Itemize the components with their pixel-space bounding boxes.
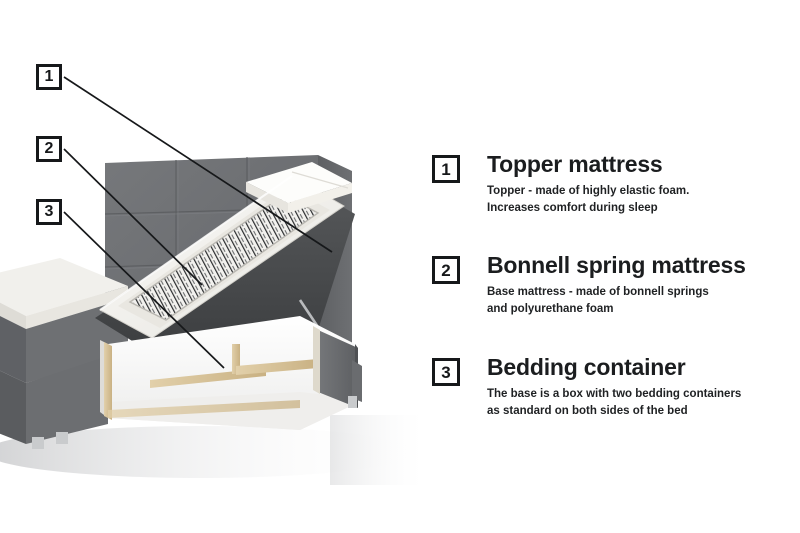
legend-badge-2-number: 2: [441, 262, 450, 279]
legend-desc-3-line1: The base is a box with two bedding conta…: [487, 386, 800, 403]
legend-desc-1-line2: Increases comfort during sleep: [487, 200, 800, 217]
legend-badge-2: 2: [432, 256, 460, 284]
legend-badge-3-number: 3: [441, 364, 450, 381]
bed-foot: [348, 396, 357, 408]
legend-item-1[interactable]: 1 Topper mattress Topper - made of highl…: [432, 152, 800, 216]
wood-trim-left: [104, 342, 112, 420]
legend-badge-1-number: 1: [441, 161, 450, 178]
callout-marker-3-number: 3: [45, 204, 54, 220]
legend-desc-2-line2: and polyurethane foam: [487, 301, 800, 318]
legend-desc-3: The base is a box with two bedding conta…: [487, 386, 800, 419]
bed-foot: [32, 437, 44, 449]
callout-marker-2[interactable]: 2: [36, 136, 62, 162]
callout-marker-3[interactable]: 3: [36, 199, 62, 225]
legend-badge-1: 1: [432, 155, 460, 183]
legend-text-1: Topper mattress Topper - made of highly …: [487, 152, 800, 216]
callout-marker-1[interactable]: 1: [36, 64, 62, 90]
bed-cutaway-illustration: [0, 0, 430, 533]
legend-desc-2-line1: Base mattress - made of bonnell springs: [487, 284, 800, 301]
legend-desc-2: Base mattress - made of bonnell springs …: [487, 284, 800, 317]
legend-text-3: Bedding container The base is a box with…: [487, 355, 800, 419]
callout-marker-1-number: 1: [45, 69, 54, 85]
legend-badge-3: 3: [432, 358, 460, 386]
legend-item-2[interactable]: 2 Bonnell spring mattress Base mattress …: [432, 253, 800, 317]
legend-title-1: Topper mattress: [487, 152, 800, 176]
legend-desc-1-line1: Topper - made of highly elastic foam.: [487, 183, 800, 200]
legend-text-2: Bonnell spring mattress Base mattress - …: [487, 253, 800, 317]
bed-foot: [56, 432, 68, 444]
infographic-page: 1 2 3 1 Topper mattress Topper - made of…: [0, 0, 800, 533]
legend-desc-3-line2: as standard on both sides of the bed: [487, 403, 800, 420]
legend-title-2: Bonnell spring mattress: [487, 253, 800, 277]
callout-marker-2-number: 2: [45, 141, 54, 157]
legend-desc-1: Topper - made of highly elastic foam. In…: [487, 183, 800, 216]
legend-title-3: Bedding container: [487, 355, 800, 379]
legend-panel: 1 Topper mattress Topper - made of highl…: [432, 0, 800, 533]
legend-item-3[interactable]: 3 Bedding container The base is a box wi…: [432, 355, 800, 419]
